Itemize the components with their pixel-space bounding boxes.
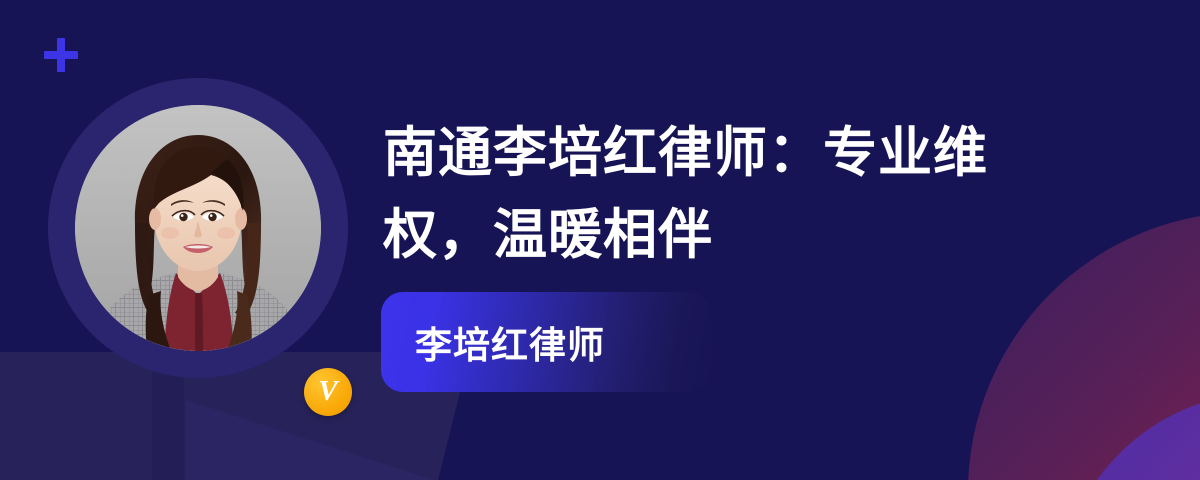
plus-icon [44,38,78,72]
page-title: 南通李培红律师：专业维 权，温暖相伴 [383,112,1123,276]
lawyer-name-button[interactable]: 李培红律师 [381,292,711,392]
verified-badge-icon: V [304,368,352,416]
content-block: 南通李培红律师：专业维 权，温暖相伴 [383,112,1123,276]
verified-badge-glyph: V [318,377,337,406]
avatar: V [48,78,348,378]
avatar-photo [75,105,321,351]
lawyer-profile-banner: V 南通李培红律师：专业维 权，温暖相伴 李培红律师 [0,0,1200,480]
lawyer-name-button-label: 李培红律师 [381,315,605,369]
vertical-band-shape [152,372,184,480]
